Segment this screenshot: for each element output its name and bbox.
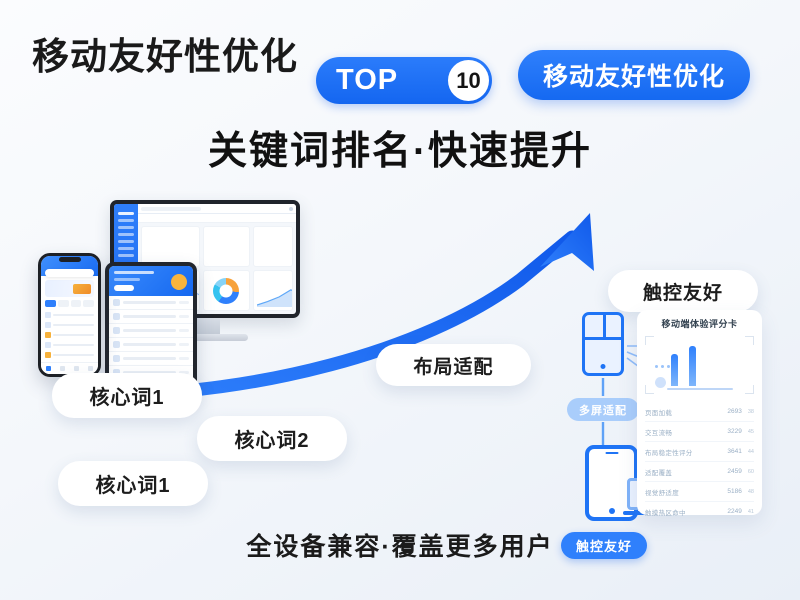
widget-area-chart [253,270,293,311]
keyword-pill-3: 核心词1 [58,461,208,506]
scorecard-chart [645,336,754,394]
top-badge-label: TOP [336,64,398,97]
footer-caption: 全设备兼容·覆盖更多用户 [0,527,800,563]
table-row: 触摸热区命中 2249 41 [645,502,754,521]
row-name: 布局稳定性评分 [645,447,727,457]
header-tag-pill: 移动友好性优化 [518,50,750,100]
row-pct: 60 [748,469,754,475]
mobile-experience-scorecard: 移动端体验评分卡 页面加载 2693 38 交互流畅 3229 45 布 [637,310,762,515]
row-value: 3229 [727,428,741,435]
row-name: 交互流畅 [645,427,727,437]
row-value: 2459 [727,468,741,475]
poster-canvas: 移动友好性优化 TOP 10 移动友好性优化 关键词排名·快速提升 [0,0,800,600]
scorecard-title: 移动端体验评分卡 [645,317,754,330]
bulb-icon [655,377,666,388]
row-name: 视觉舒适度 [645,487,727,497]
row-value: 2249 [727,508,741,515]
row-value: 5186 [727,488,741,495]
feature-pill-layout: 布局适配 [376,344,531,386]
table-row: 页面加载 2693 38 [645,402,754,422]
dashboard-toolbar [138,214,296,223]
dashboard-topbar [138,204,296,214]
row-pct: 41 [748,509,754,515]
phone-search-bar [45,269,94,277]
row-name: 页面加载 [645,407,727,417]
widget-kpi [253,226,293,267]
row-pct: 44 [748,449,754,455]
top-badge-rank: 10 [448,60,489,101]
diagram-tablet-icon [582,312,624,376]
keyword-pill-2: 核心词2 [197,416,347,461]
row-pct: 48 [748,489,754,495]
row-value: 2693 [727,408,741,415]
table-row: 视觉舒适度 5186 48 [645,482,754,502]
keyword-pill-1: 核心词1 [52,373,202,418]
row-value: 3641 [727,448,741,455]
row-name: 触摸热区命中 [645,507,727,517]
tablet-header-card [109,266,193,296]
page-title: 移动友好性优化 [32,26,298,80]
row-name: 适配覆盖 [645,467,727,477]
phone-notch [59,257,81,262]
top-rank-badge: TOP 10 [316,57,492,104]
row-pct: 45 [748,429,754,435]
phone-tabs [45,300,94,307]
scorecard-rows: 页面加载 2693 38 交互流畅 3229 45 布局稳定性评分 3641 4… [645,402,754,521]
phone-mockup [38,253,101,377]
widget-stat [203,226,250,267]
table-row: 交互流畅 3229 45 [645,422,754,442]
page-subtitle: 关键词排名·快速提升 [0,120,800,176]
widget-filter [141,226,200,267]
phone-banner [45,280,94,297]
widget-donut-chart [203,270,250,311]
diagram-multiscreen-pill: 多屏适配 [567,398,639,421]
table-row: 适配覆盖 2459 60 [645,462,754,482]
row-pct: 38 [748,409,754,415]
table-row: 布局稳定性评分 3641 44 [645,442,754,462]
